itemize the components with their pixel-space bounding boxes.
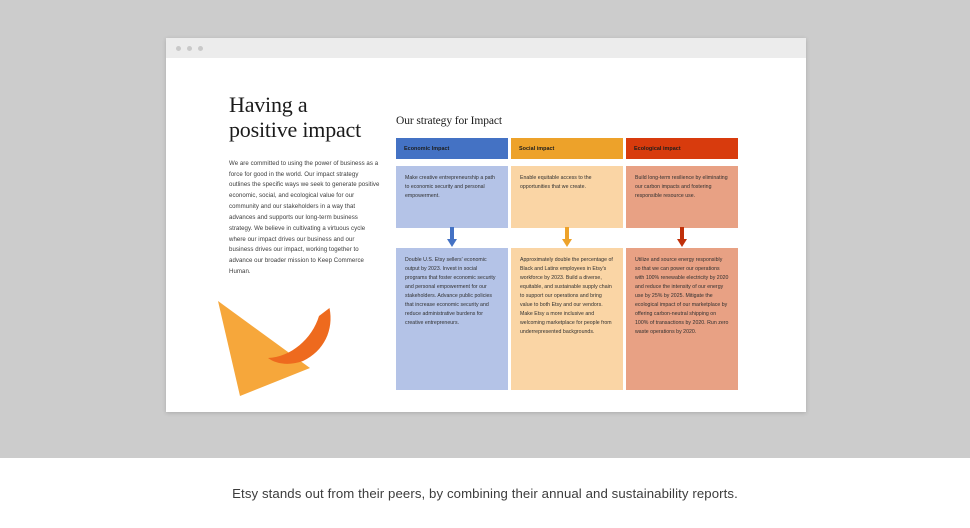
page-title: Having a positive impact: [229, 93, 380, 143]
strategy-title: Our strategy for Impact: [396, 115, 746, 127]
figure-caption: Etsy stands out from their peers, by com…: [0, 458, 970, 528]
slide-canvas: Having a positive impact We are committe…: [166, 58, 806, 412]
column-header-ecological: Ecological impact: [626, 138, 738, 159]
left-narrative-column: Having a positive impact We are committe…: [229, 93, 380, 278]
column-header-economic: Economic Impact: [396, 138, 508, 159]
page-title-line-1: Having a: [229, 92, 307, 117]
goal-box-economic: Make creative entrepreneurship a path to…: [396, 166, 508, 228]
figure-caption-text: Etsy stands out from their peers, by com…: [232, 486, 738, 501]
browser-titlebar[interactable]: [166, 38, 806, 58]
arrow-head: [447, 239, 457, 247]
crescent-shape-icon: [284, 315, 330, 361]
actions-box-economic: Double U.S. Etsy sellers' economic outpu…: [396, 248, 508, 390]
triangle-shape-icon: [218, 301, 310, 396]
column-header-social: Social impact: [511, 138, 623, 159]
window-dot-minimize-icon[interactable]: [187, 46, 192, 51]
arrow-head: [677, 239, 687, 247]
goal-box-ecological: Build long-term resilience by eliminatin…: [626, 166, 738, 228]
page-title-line-2: positive impact: [229, 117, 361, 142]
window-dot-maximize-icon[interactable]: [198, 46, 203, 51]
arrow-head: [562, 239, 572, 247]
screenshot-stage: Having a positive impact We are committe…: [0, 0, 970, 528]
arrow-ecological: [626, 228, 738, 248]
actions-box-ecological: Utilize and source energy responsibly so…: [626, 248, 738, 390]
strategy-column-economic: Economic Impact Make creative entreprene…: [396, 138, 508, 390]
strategy-section: Our strategy for Impact Economic Impact …: [396, 115, 746, 390]
strategy-columns: Economic Impact Make creative entreprene…: [396, 138, 746, 390]
actions-box-social: Approximately double the percentage of B…: [511, 248, 623, 390]
arrow-social: [511, 228, 623, 248]
browser-window: Having a positive impact We are committe…: [166, 38, 806, 412]
strategy-column-ecological: Ecological impact Build long-term resili…: [626, 138, 738, 390]
intro-paragraph: We are committed to using the power of b…: [229, 159, 380, 278]
arrow-economic: [396, 228, 508, 248]
window-dot-close-icon[interactable]: [176, 46, 181, 51]
goal-box-social: Enable equitable access to the opportuni…: [511, 166, 623, 228]
crescent-shape-fill-icon: [268, 308, 331, 364]
strategy-column-social: Social impact Enable equitable access to…: [511, 138, 623, 390]
